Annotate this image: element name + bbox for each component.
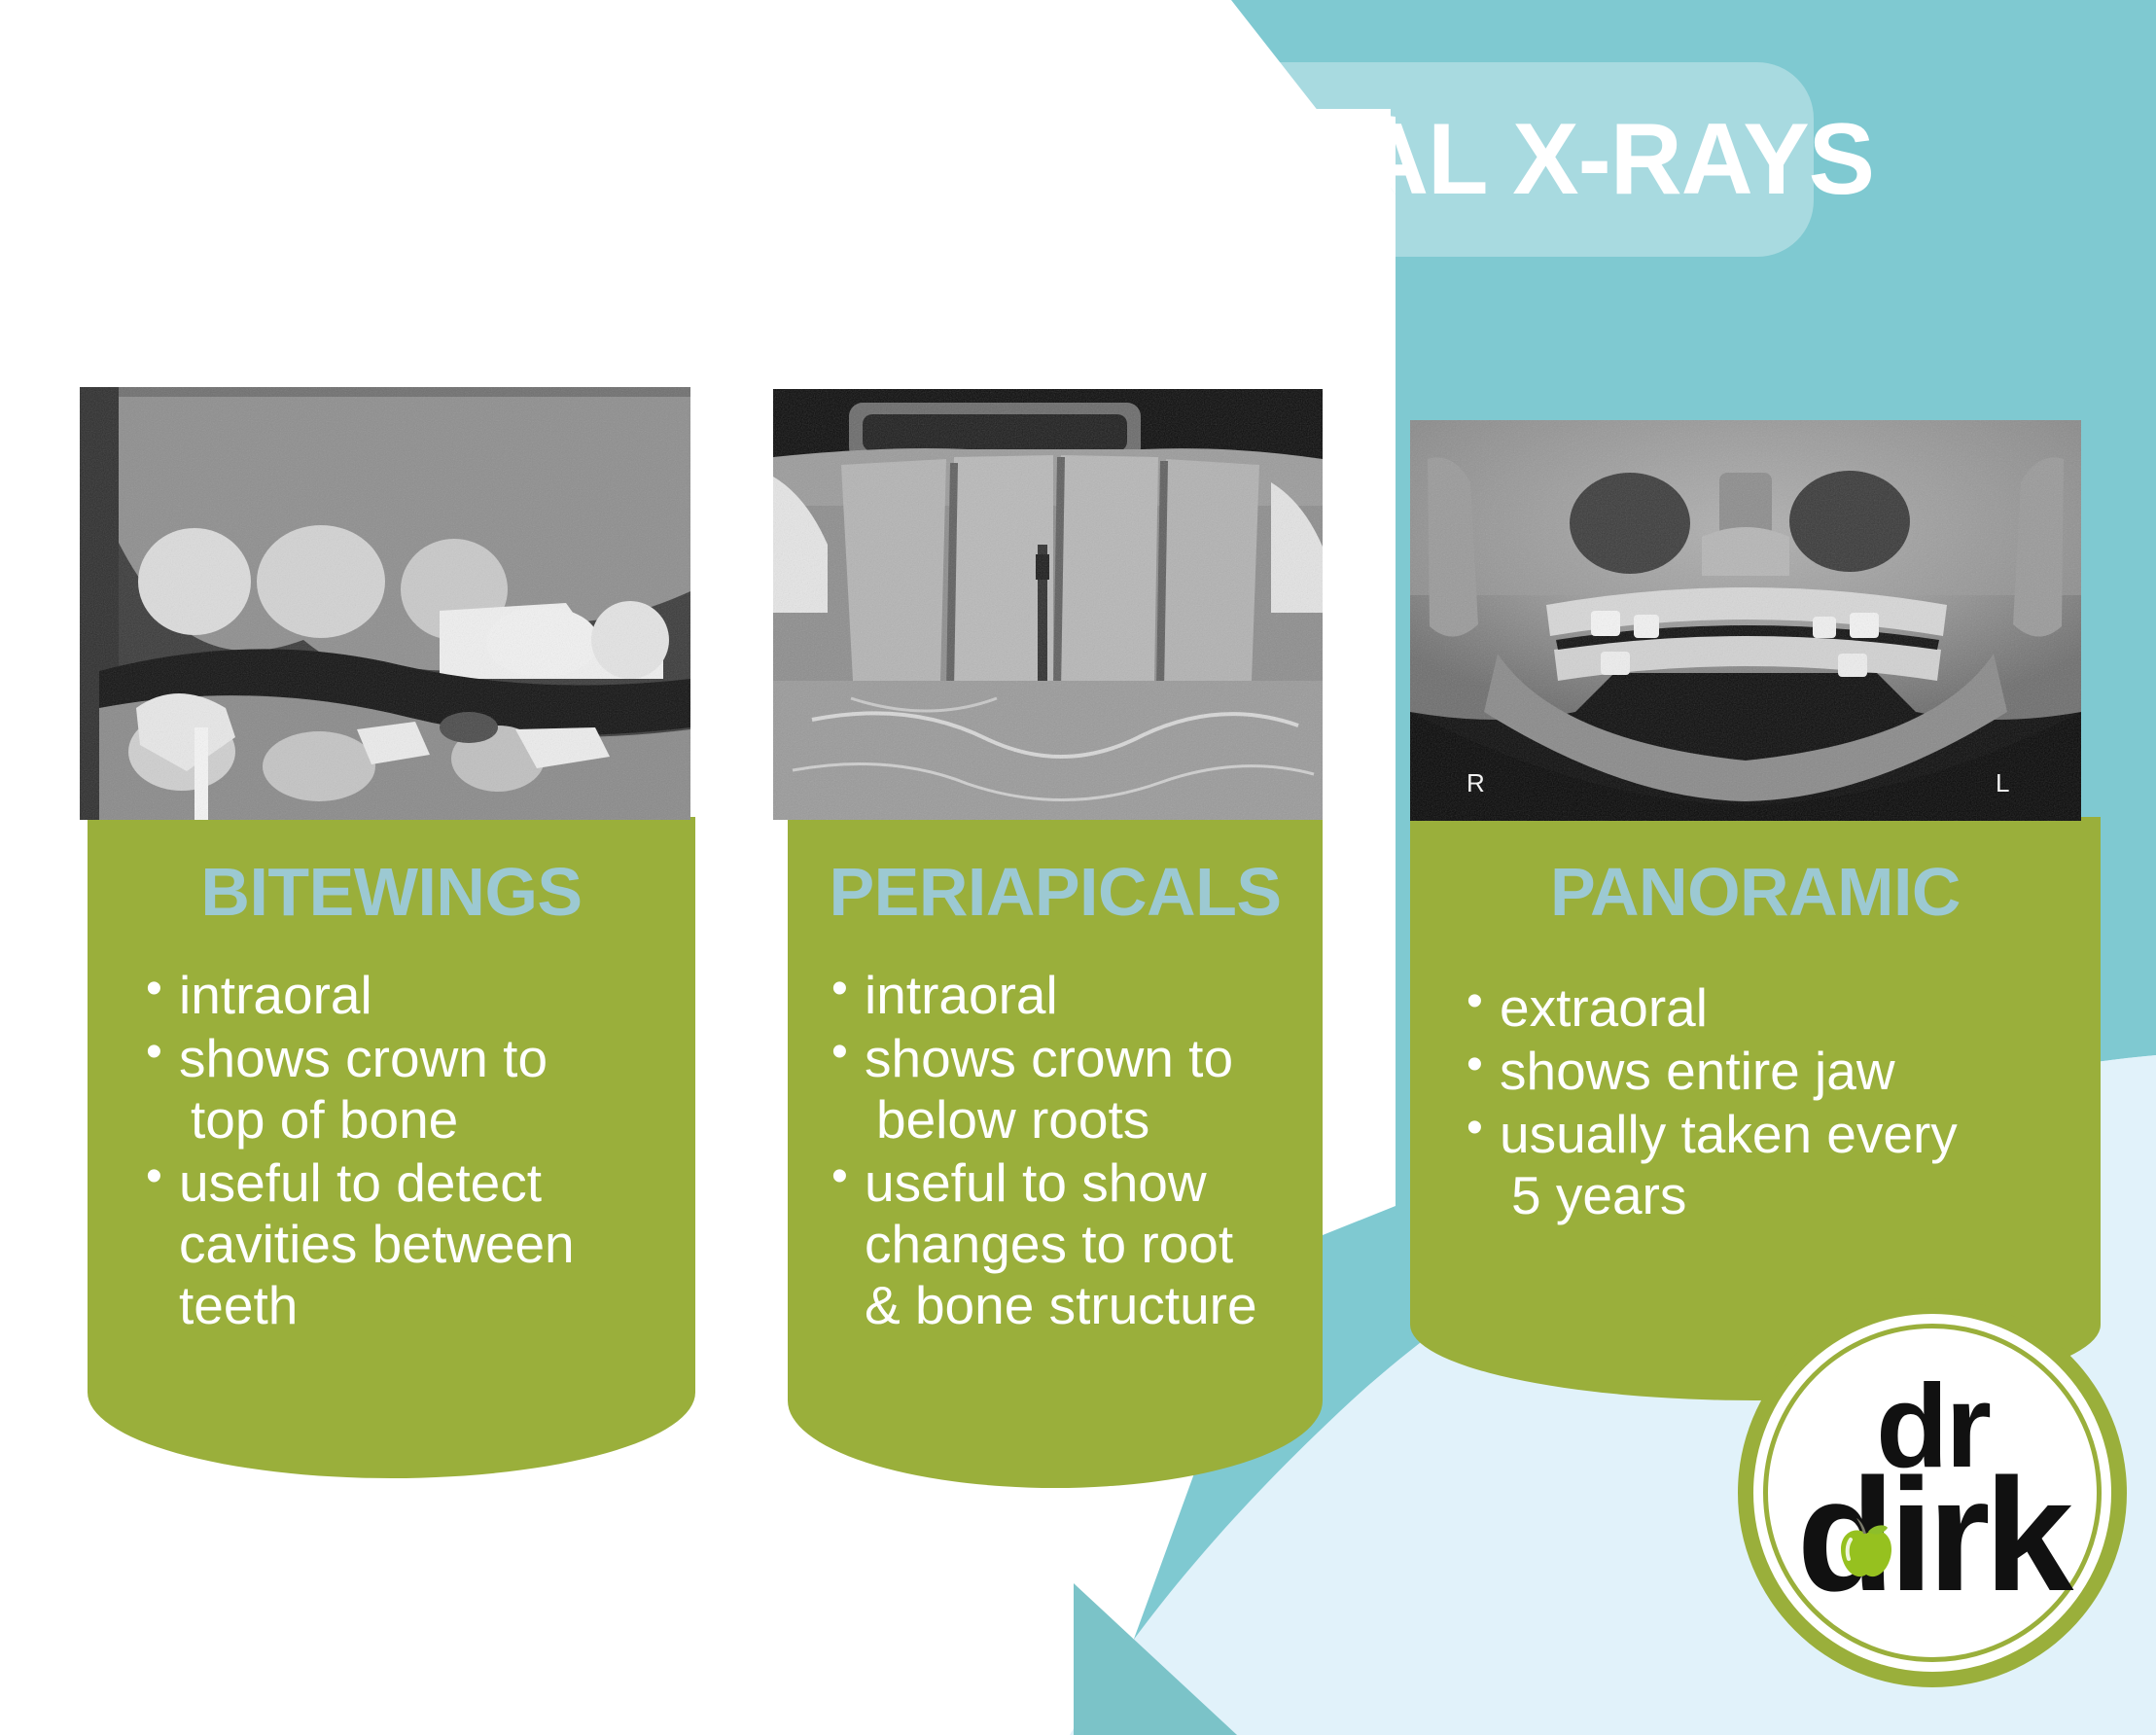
brand-logo[interactable]: dr dirk	[1738, 1298, 2127, 1687]
bullet-line: intraoral	[179, 965, 372, 1025]
bullet-line: useful to show	[865, 1152, 1207, 1213]
list-item: useful to detect cavities between teeth	[146, 1152, 672, 1336]
bitewing-xray-graphic	[80, 387, 690, 820]
list-item: shows entire jaw	[1467, 1041, 2085, 1102]
list-item: extraoral	[1467, 977, 2085, 1039]
card-panoramic-label: PANORAMIC	[1410, 858, 2101, 926]
list-item: intraoral	[146, 965, 672, 1026]
apple-icon	[1831, 1514, 1901, 1584]
bullet-line: teeth	[179, 1275, 672, 1336]
list-item: shows crown to below roots	[831, 1028, 1311, 1151]
card-panoramic-bullets: extraoral shows entire jaw usually taken…	[1467, 977, 2085, 1228]
bullet-line: useful to detect	[179, 1152, 542, 1213]
list-item: usually taken every 5 years	[1467, 1104, 2085, 1226]
marker-left: L	[1996, 768, 2009, 797]
marker-right: R	[1467, 768, 1485, 797]
bullet-line: shows crown to	[179, 1028, 548, 1088]
card-periapicals-bullets: intraoral shows crown to below roots use…	[831, 965, 1311, 1338]
xray-image-bitewings	[80, 387, 690, 820]
bullet-line: below roots	[865, 1089, 1311, 1151]
list-item: useful to show changes to root & bone st…	[831, 1152, 1311, 1336]
bullet-line: usually taken every	[1500, 1104, 1958, 1164]
bullet-line: 5 years	[1500, 1165, 2085, 1226]
list-item: intraoral	[831, 965, 1311, 1026]
xray-image-periapicals	[773, 389, 1323, 820]
page-title: COMMON TYPES OF DENTAL X-RAYS	[99, 109, 1874, 210]
card-bitewings: BITEWINGS intraoral shows crown to top o…	[88, 817, 695, 1478]
card-periapicals: PERIAPICALS intraoral shows crown to bel…	[788, 817, 1323, 1488]
xray-image-panoramic: R L	[1410, 420, 2081, 821]
bullet-line: extraoral	[1500, 977, 1708, 1038]
bullet-line: top of bone	[179, 1089, 672, 1151]
periapical-xray-graphic	[773, 389, 1323, 820]
card-bitewings-label: BITEWINGS	[88, 858, 695, 926]
page-title-banner: COMMON TYPES OF DENTAL X-RAYS	[53, 62, 1814, 257]
card-bitewings-bullets: intraoral shows crown to top of bone use…	[146, 965, 672, 1338]
list-item: shows crown to top of bone	[146, 1028, 672, 1151]
bullet-line: intraoral	[865, 965, 1058, 1025]
bullet-line: cavities between	[179, 1214, 672, 1275]
panoramic-xray-graphic: R L	[1410, 420, 2081, 821]
infographic-canvas: COMMON TYPES OF DENTAL X-RAYS BITEWINGS …	[0, 0, 2156, 1735]
bullet-line: changes to root	[865, 1214, 1311, 1275]
bullet-line: & bone structure	[865, 1275, 1311, 1336]
bullet-line: shows crown to	[865, 1028, 1233, 1088]
card-periapicals-label: PERIAPICALS	[788, 858, 1323, 926]
bullet-line: shows entire jaw	[1500, 1041, 1895, 1101]
